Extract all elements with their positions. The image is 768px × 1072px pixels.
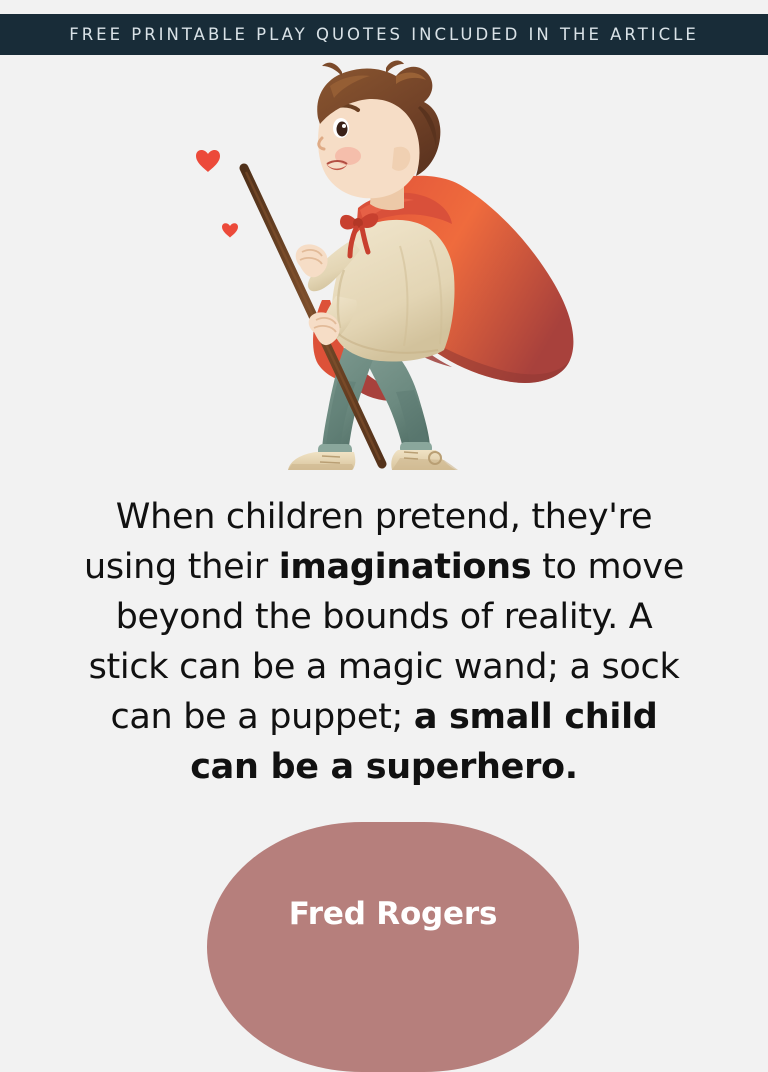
quote-segment: using their	[84, 547, 279, 587]
quote-block: When children pretend, they're using the…	[64, 492, 704, 792]
back-boot	[391, 450, 458, 470]
quote-segment: to move	[531, 547, 684, 587]
heart-icon-large	[196, 150, 220, 172]
quote-segment: stick can be a magic wand; a sock	[89, 647, 680, 687]
quote-line-2: using their imaginations to move	[64, 542, 704, 592]
front-boot	[288, 452, 355, 470]
quote-segment-bold: can be a superhero.	[190, 747, 578, 787]
hero-illustration	[0, 60, 768, 470]
top-banner: FREE PRINTABLE PLAY QUOTES INCLUDED IN T…	[0, 14, 768, 55]
quote-line-5: can be a puppet; a small child	[64, 692, 704, 742]
quote-segment: beyond the bounds of reality. A	[116, 597, 653, 637]
author-name: Fred Rogers	[207, 896, 579, 932]
quote-segment: When children pretend, they're	[116, 497, 652, 537]
quote-segment-bold: a small child	[414, 697, 658, 737]
quote-segment: can be a puppet;	[110, 697, 413, 737]
author-bubble: Fred Rogers	[207, 822, 579, 1072]
heart-icon-small	[222, 223, 238, 237]
quote-line-1: When children pretend, they're	[64, 492, 704, 542]
quote-line-3: beyond the bounds of reality. A	[64, 592, 704, 642]
quote-line-4: stick can be a magic wand; a sock	[64, 642, 704, 692]
banner-label: FREE PRINTABLE PLAY QUOTES INCLUDED IN T…	[69, 25, 699, 44]
quote-line-6: can be a superhero.	[64, 742, 704, 792]
upper-hand	[296, 244, 328, 277]
quote-segment-bold: imaginations	[279, 547, 532, 587]
quote-text: When children pretend, they're using the…	[64, 492, 704, 792]
back-leg	[366, 350, 432, 454]
